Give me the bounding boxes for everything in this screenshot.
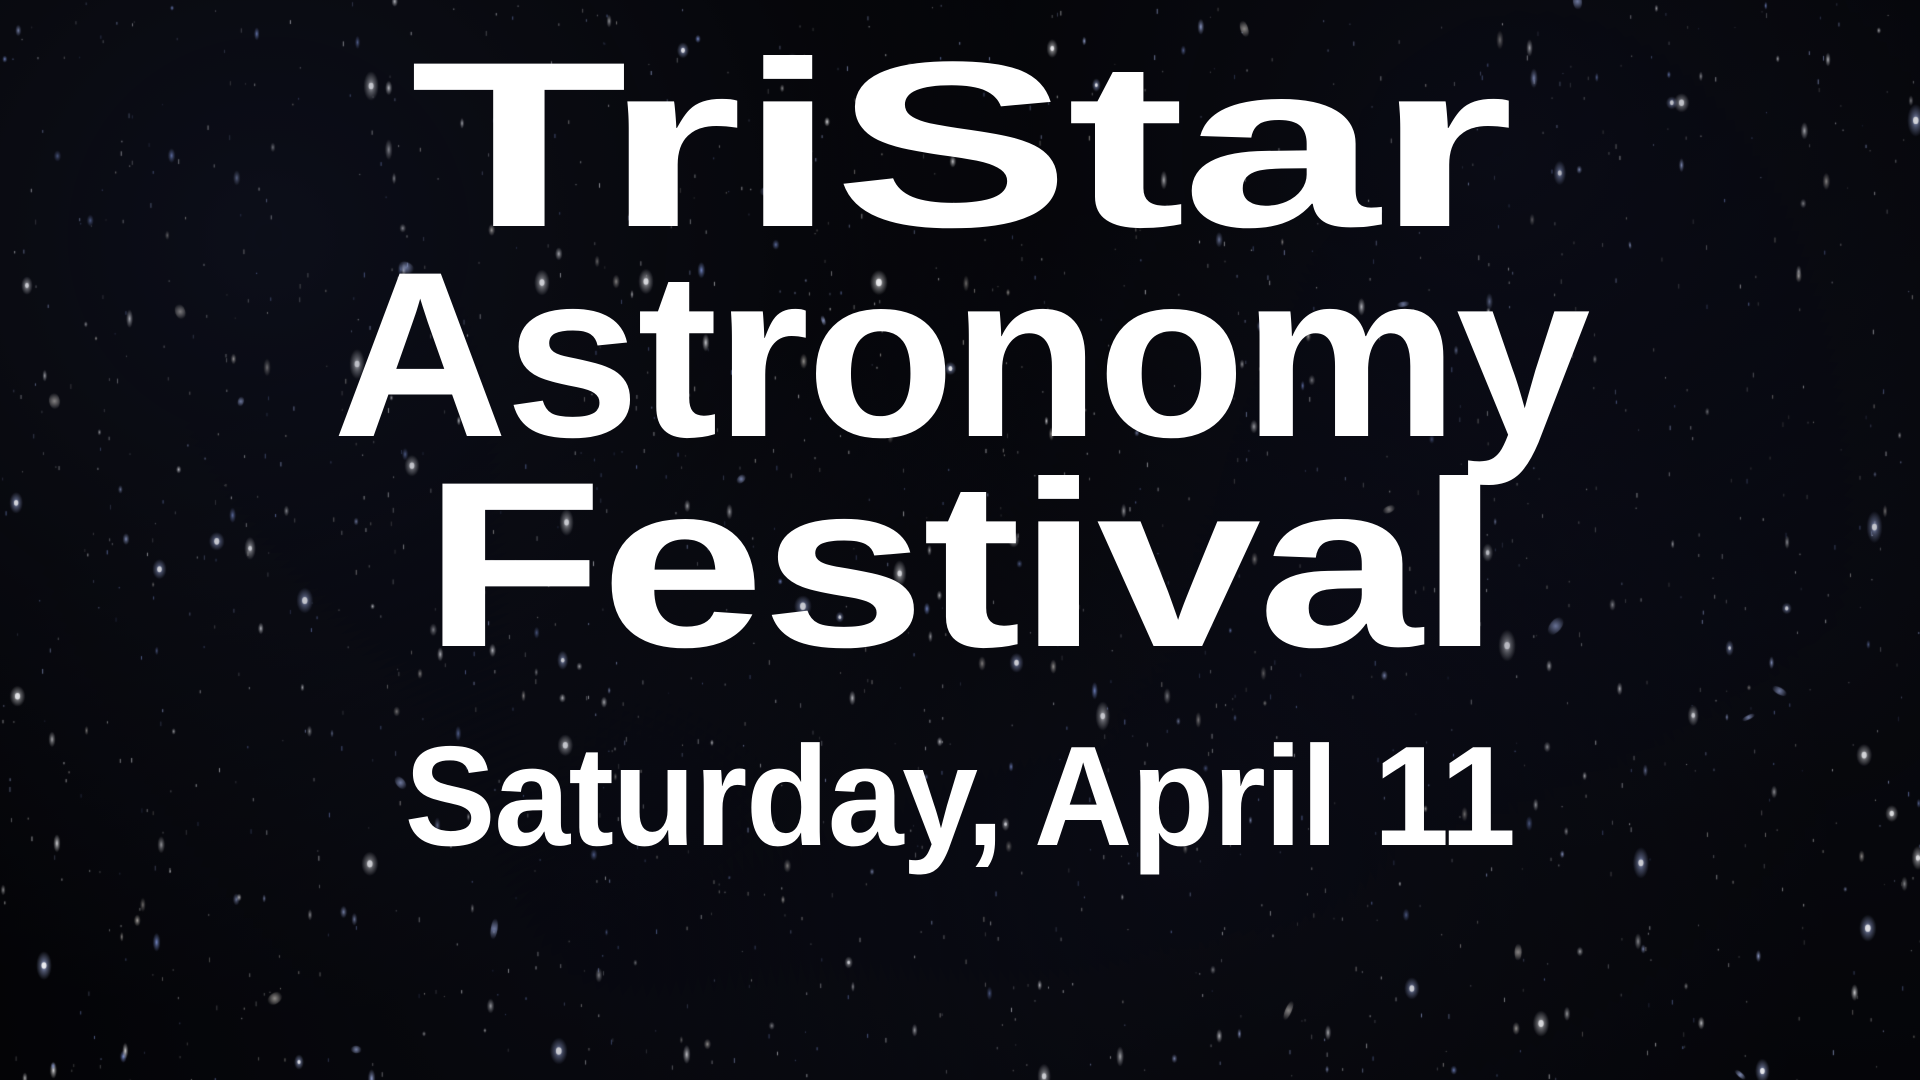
poster-title-line-2: Astronomy xyxy=(333,248,1588,464)
poster-text-block: TriStar Astronomy Festival Saturday, Apr… xyxy=(0,0,1920,1080)
poster-canvas: TriStar Astronomy Festival Saturday, Apr… xyxy=(0,0,1920,1080)
poster-title-line-3: Festival xyxy=(422,458,1497,674)
poster-subtitle-date: Saturday, April 11 xyxy=(405,726,1515,868)
poster-title-line-1: TriStar xyxy=(410,38,1510,254)
